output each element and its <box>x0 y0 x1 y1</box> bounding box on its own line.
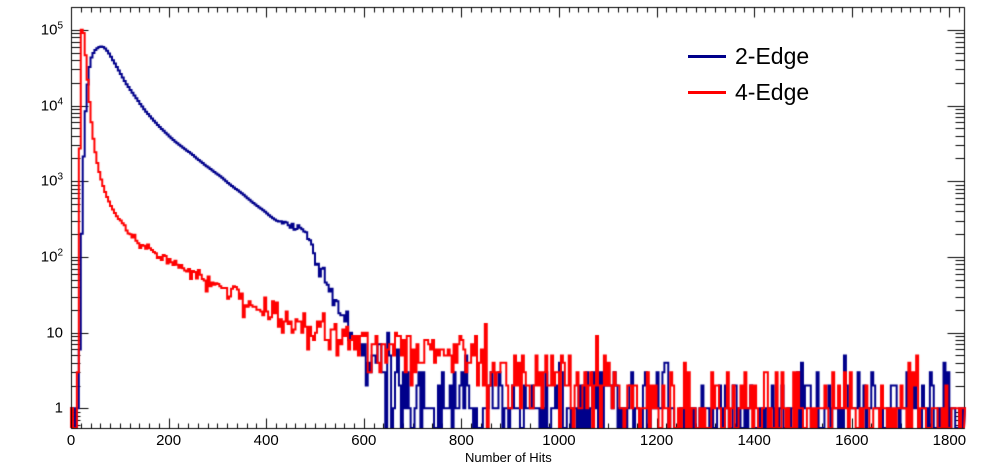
x-tick-label: 600 <box>351 432 376 449</box>
y-tick-label: 10 <box>46 324 63 341</box>
legend-color-swatch <box>688 91 726 94</box>
x-tick-label: 0 <box>67 432 75 449</box>
x-tick-label: 1000 <box>542 432 575 449</box>
x-tick-label: 1400 <box>737 432 770 449</box>
x-axis-title: Number of Hits <box>465 450 552 465</box>
y-tick-label: 1 <box>55 400 63 417</box>
y-tick-label: 103 <box>41 173 63 190</box>
legend-item: 4-Edge <box>688 74 908 110</box>
x-tick-label: 1600 <box>835 432 868 449</box>
y-tick-label: 105 <box>41 21 63 38</box>
y-tick-label: 104 <box>41 97 63 114</box>
legend-item: 2-Edge <box>688 38 908 74</box>
chart-figure: 110102103104105 020040060080010001200140… <box>0 0 996 472</box>
x-tick-label: 400 <box>254 432 279 449</box>
legend-label: 2-Edge <box>735 43 809 70</box>
x-tick-label: 800 <box>449 432 474 449</box>
legend-color-swatch <box>688 55 726 58</box>
chart-legend: 2-Edge4-Edge <box>688 38 908 110</box>
x-tick-label: 1200 <box>640 432 673 449</box>
legend-label: 4-Edge <box>735 79 809 106</box>
x-tick-label: 1800 <box>933 432 966 449</box>
y-tick-label: 102 <box>41 248 63 265</box>
x-tick-label: 200 <box>156 432 181 449</box>
